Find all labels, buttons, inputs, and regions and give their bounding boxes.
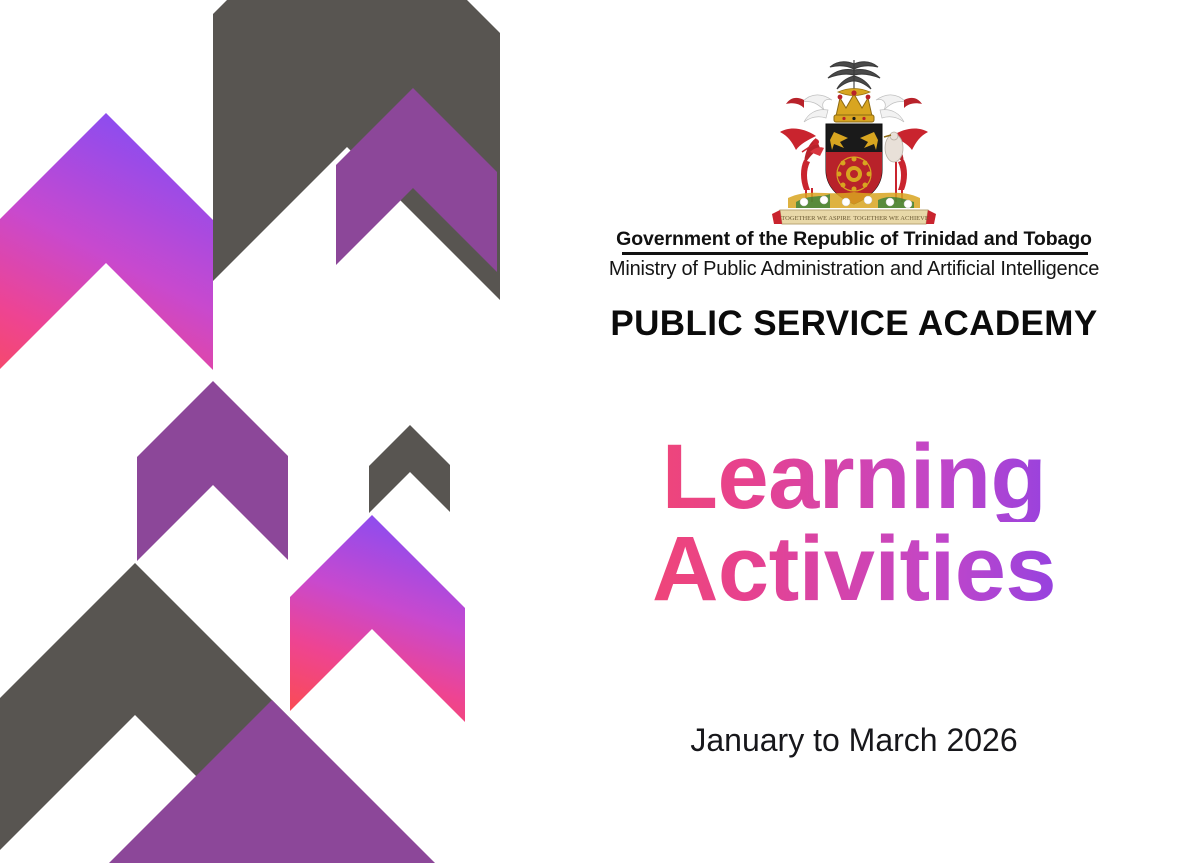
date-period: January to March 2026 — [512, 722, 1196, 759]
motto-text-right: TOGETHER WE ACHIEVE — [853, 215, 929, 222]
crown — [834, 90, 874, 122]
chevron-gradient-upperleft — [0, 113, 213, 409]
government-line: Government of the Republic of Trinidad a… — [512, 228, 1196, 251]
main-title: Learning Activities — [512, 432, 1196, 614]
crest-block: TOGETHER WE ASPIRE TOGETHER WE ACHIEVE — [512, 52, 1196, 230]
trinidad-and-tobago-coat-of-arms-icon: TOGETHER WE ASPIRE TOGETHER WE ACHIEVE — [758, 52, 950, 230]
chevron-gradient-lower — [290, 515, 465, 722]
palm-crest — [828, 60, 880, 90]
shield-ornament — [837, 157, 872, 192]
compartment — [788, 192, 920, 208]
motto-text-left: TOGETHER WE ASPIRE — [781, 215, 850, 222]
academy-title: PUBLIC SERVICE ACADEMY — [512, 304, 1196, 344]
chevron-gray-small-middle — [369, 425, 450, 513]
title-line-activities: Activities — [512, 524, 1196, 614]
motto-scroll: TOGETHER WE ASPIRE TOGETHER WE ACHIEVE — [772, 210, 936, 224]
title-line-learning: Learning — [512, 432, 1196, 522]
scarlet-ibis-supporter — [780, 129, 824, 202]
chevron-purple-middle — [137, 381, 288, 561]
content-column: TOGETHER WE ASPIRE TOGETHER WE ACHIEVE G… — [512, 0, 1196, 863]
government-line-rule — [622, 252, 1088, 255]
cover-page: TOGETHER WE ASPIRE TOGETHER WE ACHIEVE G… — [0, 0, 1196, 863]
ministry-line: Ministry of Public Administration and Ar… — [512, 258, 1196, 281]
cocrico-supporter — [884, 129, 928, 202]
chevron-artwork — [0, 0, 512, 863]
